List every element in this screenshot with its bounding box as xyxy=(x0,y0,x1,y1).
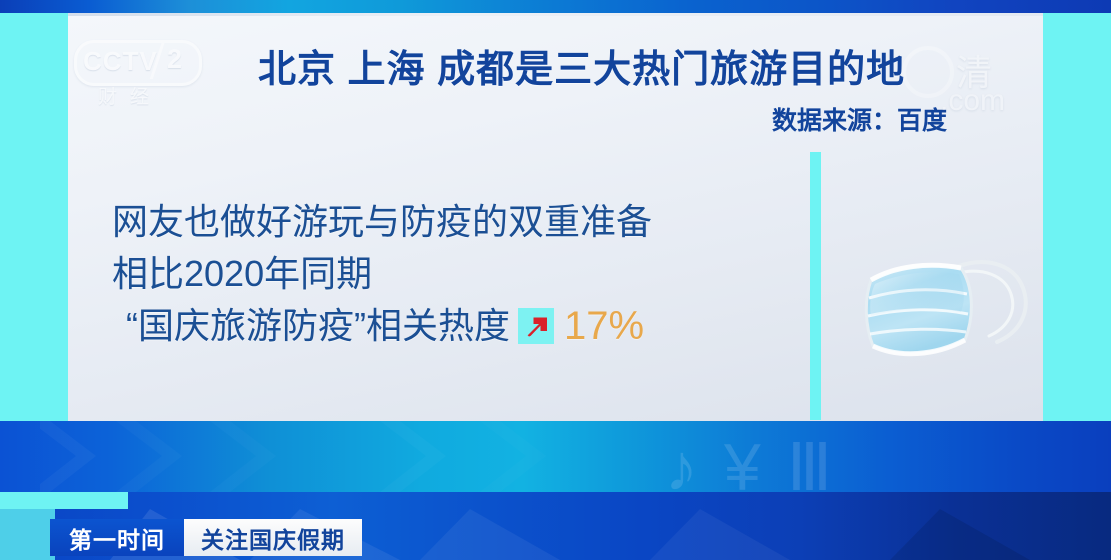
left-cyan-panel xyxy=(0,13,68,421)
face-mask-illustration xyxy=(855,240,1070,390)
body-line-3-text: “国庆旅游防疫”相关热度 xyxy=(126,300,510,352)
top-gradient-strip xyxy=(0,0,1111,13)
ticker-program-name: 第一时间 xyxy=(50,519,184,556)
page-title: 北京 上海 成都是三大热门旅游目的地 xyxy=(258,38,905,93)
ticker-topic: 关注国庆假期 xyxy=(184,519,362,556)
bottom-ticker: 第一时间 关注国庆假期 xyxy=(50,519,362,556)
panel-top-divider xyxy=(68,13,1043,16)
data-source-label: 数据来源：百度 xyxy=(772,101,947,137)
body-line-1: 网友也做好游玩与防疫的双重准备 xyxy=(112,196,652,248)
body-line-2: 相比2020年同期 xyxy=(112,248,652,300)
body-copy: 网友也做好游玩与防疫的双重准备 相比2020年同期 “国庆旅游防疫”相关热度 1… xyxy=(112,196,652,352)
broadcast-screen: CCTV 2 财经 北京 上海 成都是三大热门旅游目的地 数据来源：百度 清 .… xyxy=(0,0,1111,560)
vertical-cyan-divider xyxy=(810,152,821,420)
cyan-accent-block xyxy=(0,509,55,560)
body-line-3: “国庆旅游防疫”相关热度 17% xyxy=(112,300,652,352)
arrow-up-right-icon xyxy=(518,308,554,344)
cyan-accent-bar xyxy=(0,492,128,509)
percent-value: 17% xyxy=(564,300,644,352)
yen-symbol-decoration: ♪¥Ⅲ xyxy=(665,429,858,506)
lower-band-upper xyxy=(0,421,1111,492)
